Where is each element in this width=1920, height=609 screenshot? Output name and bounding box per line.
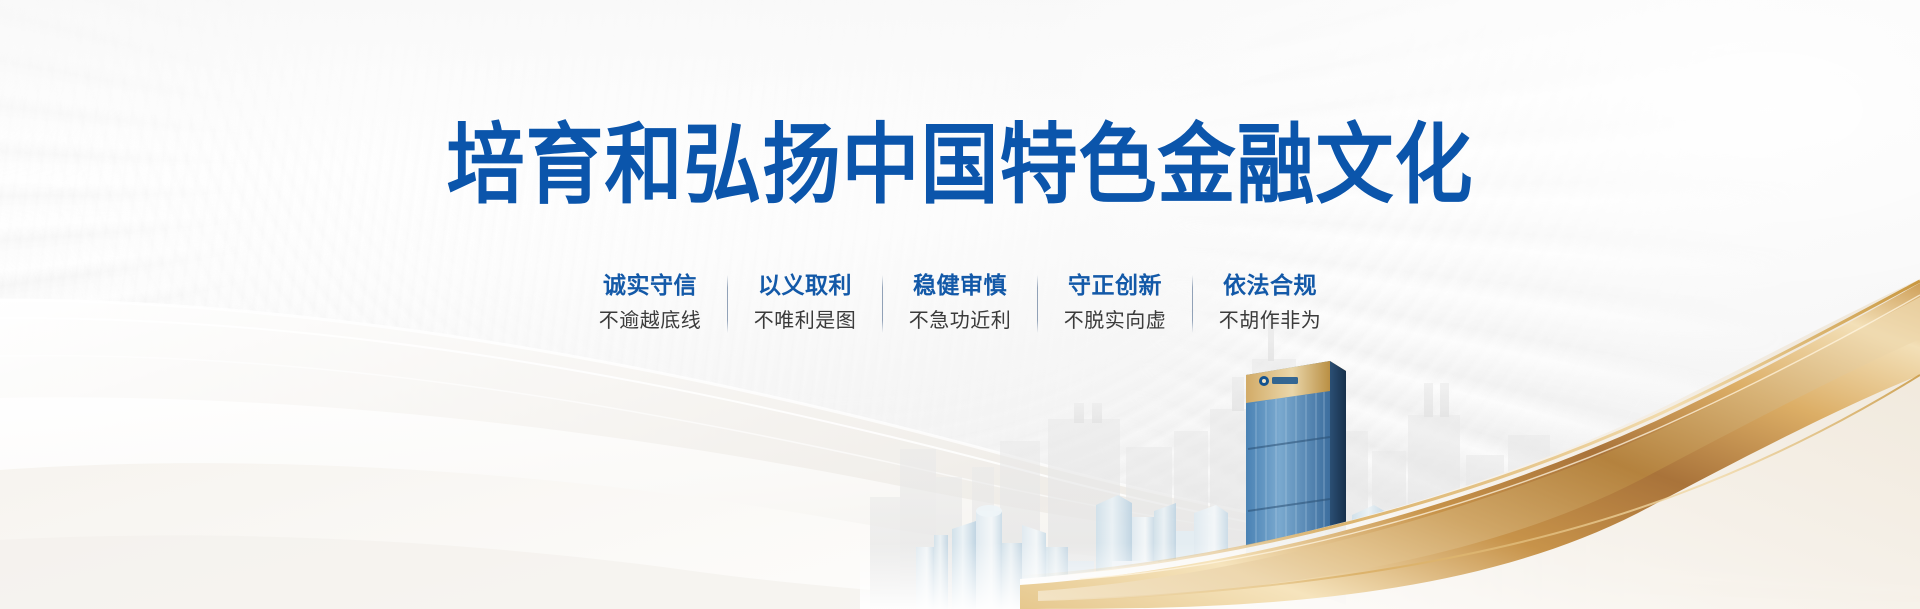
- value-item-2: 以义取利 不唯利是图: [739, 272, 871, 333]
- page-title: 培育和弘扬中国特色金融文化: [0, 122, 1920, 209]
- value-title: 稳健审慎: [894, 272, 1026, 298]
- value-title: 以义取利: [739, 272, 871, 298]
- value-subtitle: 不急功近利: [894, 310, 1026, 333]
- value-subtitle: 不脱实向虚: [1049, 310, 1181, 333]
- value-item-4: 守正创新 不脱实向虚: [1049, 272, 1181, 333]
- value-item-5: 依法合规 不胡作非为: [1204, 272, 1336, 333]
- value-divider: [1192, 275, 1193, 333]
- value-title: 依法合规: [1204, 272, 1336, 298]
- value-title: 诚实守信: [584, 272, 716, 298]
- value-divider: [882, 275, 883, 333]
- value-divider: [1037, 275, 1038, 333]
- value-item-3: 稳健审慎 不急功近利: [894, 272, 1026, 333]
- value-subtitle: 不胡作非为: [1204, 310, 1336, 333]
- value-item-1: 诚实守信 不逾越底线: [584, 272, 716, 333]
- finance-culture-banner: 培育和弘扬中国特色金融文化 诚实守信 不逾越底线 以义取利 不唯利是图 稳健审慎…: [0, 0, 1920, 609]
- value-title: 守正创新: [1049, 272, 1181, 298]
- value-subtitle: 不逾越底线: [584, 310, 716, 333]
- value-divider: [727, 275, 728, 333]
- core-values-list: 诚实守信 不逾越底线 以义取利 不唯利是图 稳健审慎 不急功近利 守正创新 不脱…: [0, 272, 1920, 333]
- value-subtitle: 不唯利是图: [739, 310, 871, 333]
